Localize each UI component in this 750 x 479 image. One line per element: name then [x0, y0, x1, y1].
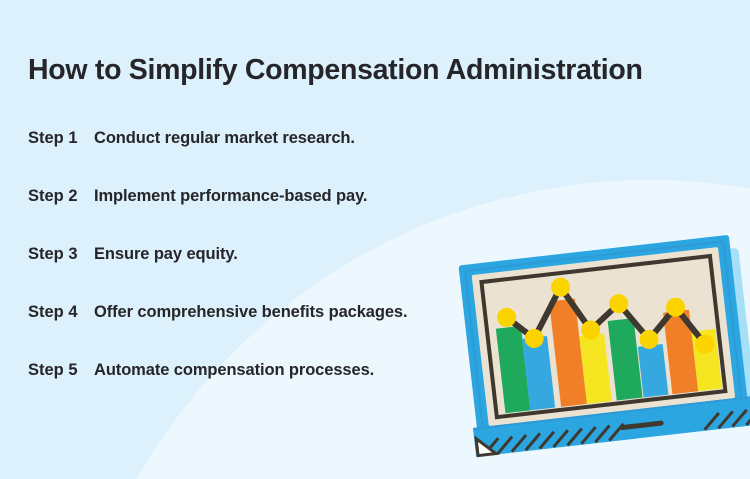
page-title: How to Simplify Compensation Administrat… — [28, 54, 643, 87]
step-label: Step 2 — [28, 187, 94, 206]
list-item: Step 4 Offer comprehensive benefits pack… — [28, 303, 408, 361]
step-label: Step 5 — [28, 361, 94, 380]
list-item: Step 1 Conduct regular market research. — [28, 129, 408, 187]
laptop-chart-illustration — [460, 229, 750, 479]
step-text: Implement performance-based pay. — [94, 187, 367, 206]
list-item: Step 3 Ensure pay equity. — [28, 245, 408, 303]
step-text: Automate compensation processes. — [94, 361, 374, 380]
steps-list: Step 1 Conduct regular market research. … — [28, 129, 408, 419]
step-label: Step 3 — [28, 245, 94, 264]
infographic-canvas: How to Simplify Compensation Administrat… — [0, 0, 750, 479]
list-item: Step 5 Automate compensation processes. — [28, 361, 408, 419]
list-item: Step 2 Implement performance-based pay. — [28, 187, 408, 245]
step-text: Conduct regular market research. — [94, 129, 355, 148]
step-text: Offer comprehensive benefits packages. — [94, 303, 408, 322]
step-label: Step 4 — [28, 303, 94, 322]
step-text: Ensure pay equity. — [94, 245, 238, 264]
step-label: Step 1 — [28, 129, 94, 148]
